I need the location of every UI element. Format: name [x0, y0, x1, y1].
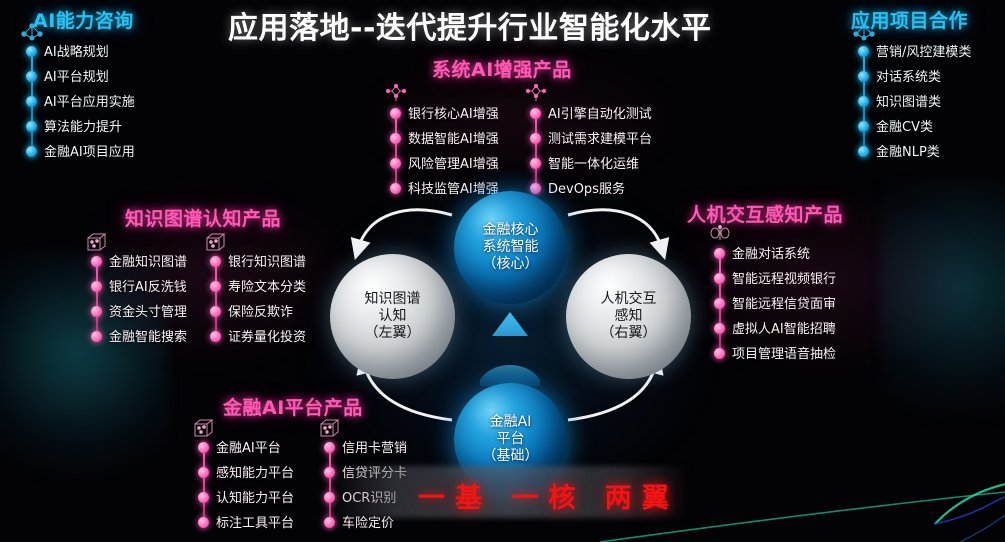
- bullet-dot: [210, 256, 221, 267]
- list-item-label: 银行知识图谱: [228, 251, 306, 270]
- bullet-dot: [858, 71, 869, 82]
- sphere-core-label: 金融核心 系统智能 （核心）: [483, 222, 539, 273]
- list-knowledge-graph-left: 金融知识图谱 银行AI反洗钱 资金头寸管理 金融智能搜索: [89, 248, 187, 348]
- sphere-foundation-line3: （基础）: [483, 448, 539, 464]
- bullet-dot: [91, 281, 102, 292]
- list-item-label: 金融CV类: [876, 116, 933, 135]
- sphere-foundation-line1: 金融AI: [490, 414, 532, 430]
- list-item[interactable]: 金融AI项目应用: [24, 138, 135, 163]
- list-item-label: 智能远程视频银行: [732, 268, 836, 287]
- bullet-dot: [858, 146, 869, 157]
- heading-ai-consulting: AI能力咨询: [33, 6, 134, 33]
- list-item[interactable]: AI引擎自动化测试: [528, 100, 652, 125]
- list-item-label: AI平台应用实施: [44, 91, 135, 110]
- sphere-right-line1: 人机交互: [601, 291, 657, 307]
- list-item-label: 金融AI平台: [216, 437, 281, 456]
- diagram-canvas: 应用落地--迭代提升行业智能化水平 AI能力咨询 AI战略规划 AI平台规划 A…: [0, 0, 1005, 542]
- list-item-label: 虚拟人AI智能招聘: [732, 318, 836, 337]
- list-item-label: 标注工具平台: [216, 512, 294, 531]
- list-item[interactable]: 认知能力平台: [196, 484, 294, 509]
- list-item[interactable]: 对话系统类: [856, 63, 971, 88]
- bullet-dot: [210, 306, 221, 317]
- bullet-dot: [390, 108, 401, 119]
- bullet-dot: [714, 323, 725, 334]
- list-item[interactable]: 金融CV类: [856, 113, 971, 138]
- list-item-label: 感知能力平台: [216, 462, 294, 481]
- list-item[interactable]: 风险管理AI增强: [388, 150, 499, 175]
- bullet-dot: [530, 158, 541, 169]
- sphere-core[interactable]: 金融核心 系统智能 （核心）: [454, 191, 567, 304]
- list-item[interactable]: 营销/风控建模类: [856, 38, 971, 63]
- list-item-label: AI战略规划: [44, 41, 109, 60]
- bullet-dot: [530, 133, 541, 144]
- list-system-ai-left: 银行核心AI增强 数据智能AI增强 风险管理AI增强 科技监管AI增强: [388, 100, 499, 200]
- bullet-dot: [91, 306, 102, 317]
- list-item-label: 金融AI项目应用: [44, 141, 135, 160]
- list-item[interactable]: 资金头寸管理: [89, 298, 187, 323]
- bullet-dot: [390, 183, 401, 194]
- bullet-dot: [26, 121, 37, 132]
- list-item[interactable]: 智能远程信贷面审: [712, 290, 836, 315]
- bullet-dot: [210, 331, 221, 342]
- sphere-foundation-line2: 平台: [497, 431, 525, 447]
- list-item[interactable]: 感知能力平台: [196, 459, 294, 484]
- list-system-ai-right: AI引擎自动化测试 测试需求建模平台 智能一体化运维 DevOps服务: [528, 100, 652, 200]
- list-item[interactable]: 银行知识图谱: [208, 248, 306, 273]
- list-item[interactable]: 虚拟人AI智能招聘: [712, 315, 836, 340]
- sphere-core-line1: 金融核心: [483, 222, 539, 238]
- sphere-left-line2: 认知: [379, 308, 407, 324]
- list-item-label: AI引擎自动化测试: [548, 103, 652, 122]
- bullet-dot: [91, 256, 102, 267]
- bullet-dot: [858, 96, 869, 107]
- list-item[interactable]: DevOps服务: [528, 175, 652, 200]
- list-item-label: 算法能力提升: [44, 116, 122, 135]
- list-item[interactable]: 科技监管AI增强: [388, 175, 499, 200]
- list-item-label: 金融知识图谱: [109, 251, 187, 270]
- list-item[interactable]: 知识图谱类: [856, 88, 971, 113]
- sphere-foundation-label: 金融AI 平台 （基础）: [483, 414, 539, 465]
- list-item-label: 金融智能搜索: [109, 326, 187, 345]
- bullet-dot: [324, 517, 335, 528]
- heading-human-machine-perception: 人机交互感知产品: [687, 200, 843, 227]
- bullet-dot: [26, 71, 37, 82]
- list-item-label: 金融NLP类: [876, 141, 940, 160]
- list-item[interactable]: 算法能力提升: [24, 113, 135, 138]
- list-item[interactable]: 智能一体化运维: [528, 150, 652, 175]
- bullet-dot: [858, 121, 869, 132]
- list-item[interactable]: 金融对话系统: [712, 240, 836, 265]
- bullet-dot: [324, 442, 335, 453]
- list-human-machine-perception: 金融对话系统 智能远程视频银行 智能远程信贷面审 虚拟人AI智能招聘 项目管理语…: [712, 240, 836, 365]
- list-item-label: AI平台规划: [44, 66, 109, 85]
- sphere-left-line1: 知识图谱: [365, 291, 421, 307]
- heading-knowledge-graph: 知识图谱认知产品: [125, 204, 281, 231]
- bullet-dot: [714, 298, 725, 309]
- sphere-right-line2: 感知: [615, 308, 643, 324]
- list-item[interactable]: 金融AI平台: [196, 434, 294, 459]
- list-item[interactable]: 银行核心AI增强: [388, 100, 499, 125]
- list-item[interactable]: 数据智能AI增强: [388, 125, 499, 150]
- list-item[interactable]: 标注工具平台: [196, 509, 294, 534]
- bullet-dot: [858, 46, 869, 57]
- list-item-label: 信用卡营销: [342, 437, 407, 456]
- bullet-dot: [390, 133, 401, 144]
- list-item[interactable]: 金融知识图谱: [89, 248, 187, 273]
- bullet-dot: [198, 492, 209, 503]
- list-item-label: DevOps服务: [548, 178, 625, 197]
- bullet-dot: [390, 158, 401, 169]
- list-item-label: 风险管理AI增强: [408, 153, 499, 172]
- list-item[interactable]: AI战略规划: [24, 38, 135, 63]
- list-item-label: 金融对话系统: [732, 243, 810, 262]
- bullet-dot: [26, 146, 37, 157]
- list-item-label: 测试需求建模平台: [548, 128, 652, 147]
- list-item[interactable]: AI平台应用实施: [24, 88, 135, 113]
- bullet-dot: [530, 183, 541, 194]
- sphere-core-line3: （核心）: [483, 256, 539, 272]
- bullet-dot: [26, 96, 37, 107]
- list-item-label: 智能一体化运维: [548, 153, 639, 172]
- sphere-right-wing[interactable]: 人机交互 感知 （右翼）: [566, 254, 691, 379]
- bullet-dot: [210, 281, 221, 292]
- bullet-dot: [198, 467, 209, 478]
- list-ai-consulting: AI战略规划 AI平台规划 AI平台应用实施 算法能力提升 金融AI项目应用: [24, 38, 135, 163]
- list-item-label: 知识图谱类: [876, 91, 941, 110]
- list-item-label: 科技监管AI增强: [408, 178, 499, 197]
- list-item-label: 项目管理语音抽检: [732, 343, 836, 362]
- list-item[interactable]: 项目管理语音抽检: [712, 340, 836, 365]
- bullet-dot: [714, 273, 725, 284]
- list-item-label: 证券量化投资: [228, 326, 306, 345]
- right-glow: [880, 180, 1005, 420]
- bullet-dot: [198, 517, 209, 528]
- bullet-dot: [198, 442, 209, 453]
- sphere-right-wing-label: 人机交互 感知 （右翼）: [601, 291, 657, 342]
- list-item[interactable]: 寿险文本分类: [208, 273, 306, 298]
- list-item-label: 银行AI反洗钱: [109, 276, 187, 295]
- list-item-label: 对话系统类: [876, 66, 941, 85]
- list-project-cooperation: 营销/风控建模类 对话系统类 知识图谱类 金融CV类 金融NLP类: [856, 38, 971, 163]
- bullet-dot: [714, 248, 725, 259]
- list-item-label: 寿险文本分类: [228, 276, 306, 295]
- bullet-dot: [530, 108, 541, 119]
- slogan-text: 一基 一核 两翼: [418, 476, 679, 515]
- sphere-left-line3: （左翼）: [365, 325, 421, 341]
- heading-system-ai-enhancement: 系统AI增强产品: [432, 55, 572, 82]
- list-item-label: 营销/风控建模类: [876, 41, 971, 60]
- list-item[interactable]: 金融智能搜索: [89, 323, 187, 348]
- sphere-left-wing-label: 知识图谱 认知 （左翼）: [365, 291, 421, 342]
- list-item-label: 智能远程信贷面审: [732, 293, 836, 312]
- list-item[interactable]: 智能远程视频银行: [712, 265, 836, 290]
- list-item[interactable]: AI平台规划: [24, 63, 135, 88]
- sphere-right-line3: （右翼）: [601, 325, 657, 341]
- sphere-core-line2: 系统智能: [483, 239, 539, 255]
- list-item-label: 保险反欺诈: [228, 301, 293, 320]
- list-financial-ai-platform-left: 金融AI平台 感知能力平台 认知能力平台 标注工具平台: [196, 434, 294, 534]
- page-title: 应用落地--迭代提升行业智能化水平: [228, 3, 711, 47]
- list-item[interactable]: 保险反欺诈: [208, 298, 306, 323]
- list-item[interactable]: 银行AI反洗钱: [89, 273, 187, 298]
- list-item-label: 银行核心AI增强: [408, 103, 499, 122]
- sphere-left-wing[interactable]: 知识图谱 认知 （左翼）: [330, 254, 455, 379]
- bullet-dot: [91, 331, 102, 342]
- list-item[interactable]: 测试需求建模平台: [528, 125, 652, 150]
- heading-financial-ai-platform: 金融AI平台产品: [223, 393, 363, 420]
- list-item[interactable]: 金融NLP类: [856, 138, 971, 163]
- bullet-dot: [26, 46, 37, 57]
- list-item-label: 数据智能AI增强: [408, 128, 499, 147]
- list-item-label: 资金头寸管理: [109, 301, 187, 320]
- bullet-dot: [714, 348, 725, 359]
- list-item-label: 认知能力平台: [216, 487, 294, 506]
- list-item[interactable]: 信用卡营销: [322, 434, 407, 459]
- list-item[interactable]: 证券量化投资: [208, 323, 306, 348]
- list-knowledge-graph-right: 银行知识图谱 寿险文本分类 保险反欺诈 证券量化投资: [208, 248, 306, 348]
